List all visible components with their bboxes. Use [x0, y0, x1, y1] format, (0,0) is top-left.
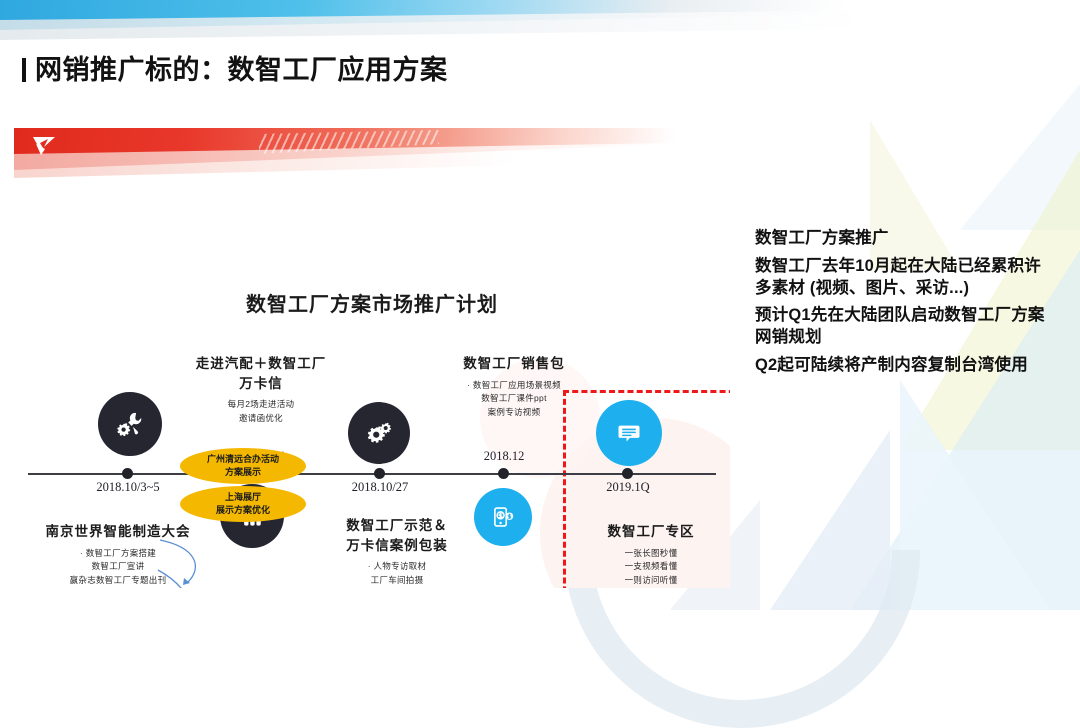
milestone-sales-pack: 数智工厂销售包 数智工厂应用场景视频 数智工厂课件ppt 案例专访视频 — [424, 354, 604, 419]
timeline-date-1: 2018.10/3~5 — [96, 480, 159, 495]
milestone-sales-pack-bullets: 数智工厂应用场景视频 数智工厂课件ppt 案例专访视频 — [424, 379, 604, 420]
top-gray-band — [0, 6, 1080, 40]
timeline-node-4 — [498, 468, 509, 479]
embedded-slide: 数智工厂方案市场推广计划 2018.10/3~5 2018.10~11 2018… — [14, 128, 730, 588]
timeline-date-3: 2018.10/27 — [352, 480, 409, 495]
timeline-node-5 — [622, 468, 633, 479]
callout-line-2: 方案展示 — [207, 466, 279, 479]
milestone-demo-case: 数智工厂示范＆ 万卡信案例包装 人物专访取材 工厂车间拍摄 — [302, 516, 492, 587]
milestone-zone-heading: 数智工厂专区 — [570, 522, 730, 542]
bullet: 一篇报导读懂 — [570, 587, 730, 588]
page-title-text: 网销推广标的：数智工厂应用方案 — [35, 55, 448, 85]
bullet: 人物专访取材 — [302, 560, 492, 574]
bullet: 案例专访视频 — [424, 406, 604, 420]
timeline-date-5: 2019.1Q — [606, 480, 649, 495]
bullet: 一支视频看懂 — [570, 560, 730, 574]
heading-line-1: 走进汽配＋数智工厂 — [166, 354, 356, 374]
callout-line-2: 展示方案优化 — [216, 504, 270, 517]
milestone-zone: 数智工厂专区 一张长图秒懂 一支视频看懂 一则访问听懂 一篇报导读懂 — [570, 522, 730, 588]
chat-bubble-icon — [596, 400, 662, 466]
title-accent-bar — [22, 58, 26, 82]
callout-line-1: 上海展厅 — [216, 491, 270, 504]
heading-line-2: 万卡信 — [166, 374, 356, 394]
note-paragraph-2: 数智工厂去年10月起在大陆已经累积许多素材 (视频、图片、采访...) — [755, 256, 1055, 300]
bullet: 数智工厂课件ppt — [424, 392, 604, 406]
top-blue-band — [0, 0, 1080, 30]
callout-connector-2 — [154, 568, 224, 588]
timeline-date-4: 2018.12 — [484, 449, 525, 464]
note-paragraph-4: Q2起可陆续将产制内容复制台湾使用 — [755, 355, 1055, 377]
bullet: 邀请函优化 — [166, 412, 356, 426]
milestone-sales-pack-heading: 数智工厂销售包 — [424, 354, 604, 374]
bullet: 一则访问听懂 — [570, 574, 730, 588]
page-title: 网销推广标的：数智工厂应用方案 — [22, 48, 448, 87]
milestone-auto-parts-heading: 走进汽配＋数智工厂 万卡信 — [166, 354, 356, 393]
callout-line-1: 广州清远合办活动 — [207, 453, 279, 466]
milestone-auto-parts: 走进汽配＋数智工厂 万卡信 每月2场走进活动 邀请函优化 — [166, 354, 356, 425]
deco-triangle-3 — [900, 380, 1050, 610]
milestone-zone-bullets: 一张长图秒懂 一支视频看懂 一则访问听懂 一篇报导读懂 — [570, 547, 730, 588]
note-paragraph-1: 数智工厂方案推广 — [755, 228, 1055, 250]
callout-shanghai: 上海展厅 展示方案优化 — [180, 486, 306, 522]
milestone-demo-case-heading: 数智工厂示范＆ 万卡信案例包装 — [302, 516, 492, 555]
deco-triangle-7 — [960, 60, 1080, 230]
deco-triangle-4 — [770, 430, 890, 610]
notes-panel: 数智工厂方案推广 数智工厂去年10月起在大陆已经累积许多素材 (视频、图片、采访… — [755, 228, 1055, 383]
slide-title: 数智工厂方案市场推广计划 — [14, 288, 730, 317]
note-paragraph-3: 预计Q1先在大陆团队启动数智工厂方案网销规划 — [755, 305, 1055, 349]
callout-guangzhou: 广州清远合办活动 方案展示 — [180, 448, 306, 484]
bullet: 数智工厂应用场景视频 — [424, 379, 604, 393]
company-mark-icon — [32, 135, 56, 157]
heading-line-2: 万卡信案例包装 — [302, 536, 492, 556]
bullet: 一张长图秒懂 — [570, 547, 730, 561]
milestone-demo-case-bullets: 人物专访取材 工厂车间拍摄 — [302, 560, 492, 587]
wrench-gear-icon — [98, 392, 162, 456]
milestone-auto-parts-bullets: 每月2场走进活动 邀请函优化 — [166, 398, 356, 425]
timeline-node-1 — [122, 468, 133, 479]
gears-icon — [348, 402, 410, 464]
heading-line-1: 数智工厂示范＆ — [302, 516, 492, 536]
bullet: 工厂车间拍摄 — [302, 574, 492, 588]
bullet: 每月2场走进活动 — [166, 398, 356, 412]
timeline-node-3 — [374, 468, 385, 479]
